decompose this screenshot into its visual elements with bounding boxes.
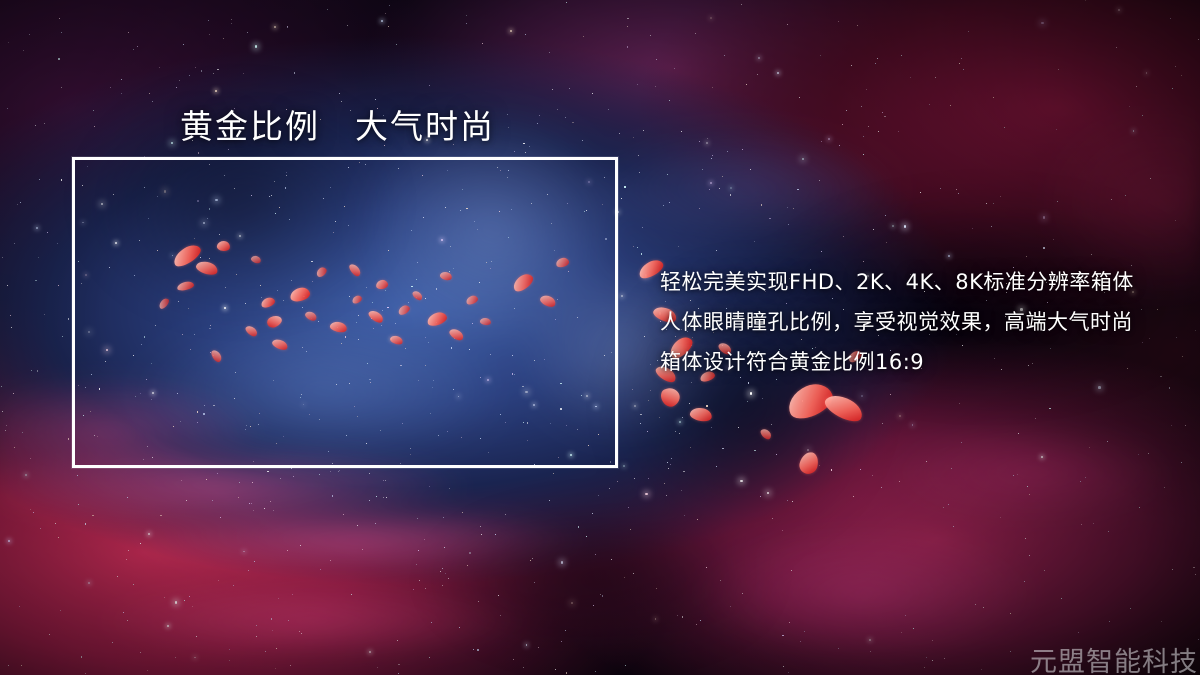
flower-petal xyxy=(411,289,424,302)
flower-petal xyxy=(539,293,558,309)
flower-petal xyxy=(439,271,453,282)
flower-petal xyxy=(265,313,283,329)
body-copy-line-3: 箱体设计符合黄金比例16:9 xyxy=(660,342,1170,382)
watermark: 元盟智能科技 xyxy=(1030,640,1198,675)
flower-petal xyxy=(216,240,230,252)
body-copy-line-1: 轻松完美实现FHD、2K、4K、8K标准分辨率箱体 xyxy=(660,262,1170,302)
flower-petal xyxy=(389,334,404,346)
body-copy-block: 轻松完美实现FHD、2K、4K、8K标准分辨率箱体 人体眼睛瞳孔比例，享受视觉效… xyxy=(660,262,1170,382)
page-title: 黄金比例 大气时尚 xyxy=(180,100,495,148)
flower-petal xyxy=(689,406,713,423)
flower-petal xyxy=(210,348,224,363)
flower-petal xyxy=(367,308,385,325)
flower-petal xyxy=(448,327,465,343)
flower-petal xyxy=(289,286,312,303)
flower-petal xyxy=(798,450,821,476)
flower-petal xyxy=(304,310,318,323)
flower-petal xyxy=(348,262,363,278)
flower-petal xyxy=(157,297,170,311)
flower-petal xyxy=(465,294,479,306)
flower-petal xyxy=(315,265,329,278)
flower-petal xyxy=(479,317,491,326)
flower-petal xyxy=(658,384,683,409)
body-copy-line-2: 人体眼睛瞳孔比例，享受视觉效果，高端大气时尚 xyxy=(660,302,1170,342)
flower-petal xyxy=(250,254,262,264)
flower-petal xyxy=(759,427,773,441)
flower-petal xyxy=(260,296,276,309)
flower-petal xyxy=(375,279,388,290)
flower-petal xyxy=(195,259,220,277)
flower-petal xyxy=(244,324,259,338)
flower-petal xyxy=(397,304,411,317)
flower-petal xyxy=(170,241,203,270)
framed-galaxy-photo xyxy=(72,157,618,468)
flower-petals-in-photo xyxy=(75,160,615,465)
presentation-slide: 黄金比例 大气时尚 轻松完美实现FHD、2K、4K、8K标准分辨率箱体 人体眼睛… xyxy=(0,0,1200,675)
flower-petal xyxy=(426,310,449,328)
flower-petal xyxy=(351,294,363,305)
flower-petal xyxy=(822,390,867,426)
flower-petal xyxy=(783,378,837,424)
flower-petal xyxy=(176,280,194,291)
flower-petal xyxy=(555,257,570,269)
flower-petal xyxy=(329,320,348,334)
flower-petal xyxy=(271,337,289,352)
flower-petal xyxy=(510,271,535,294)
